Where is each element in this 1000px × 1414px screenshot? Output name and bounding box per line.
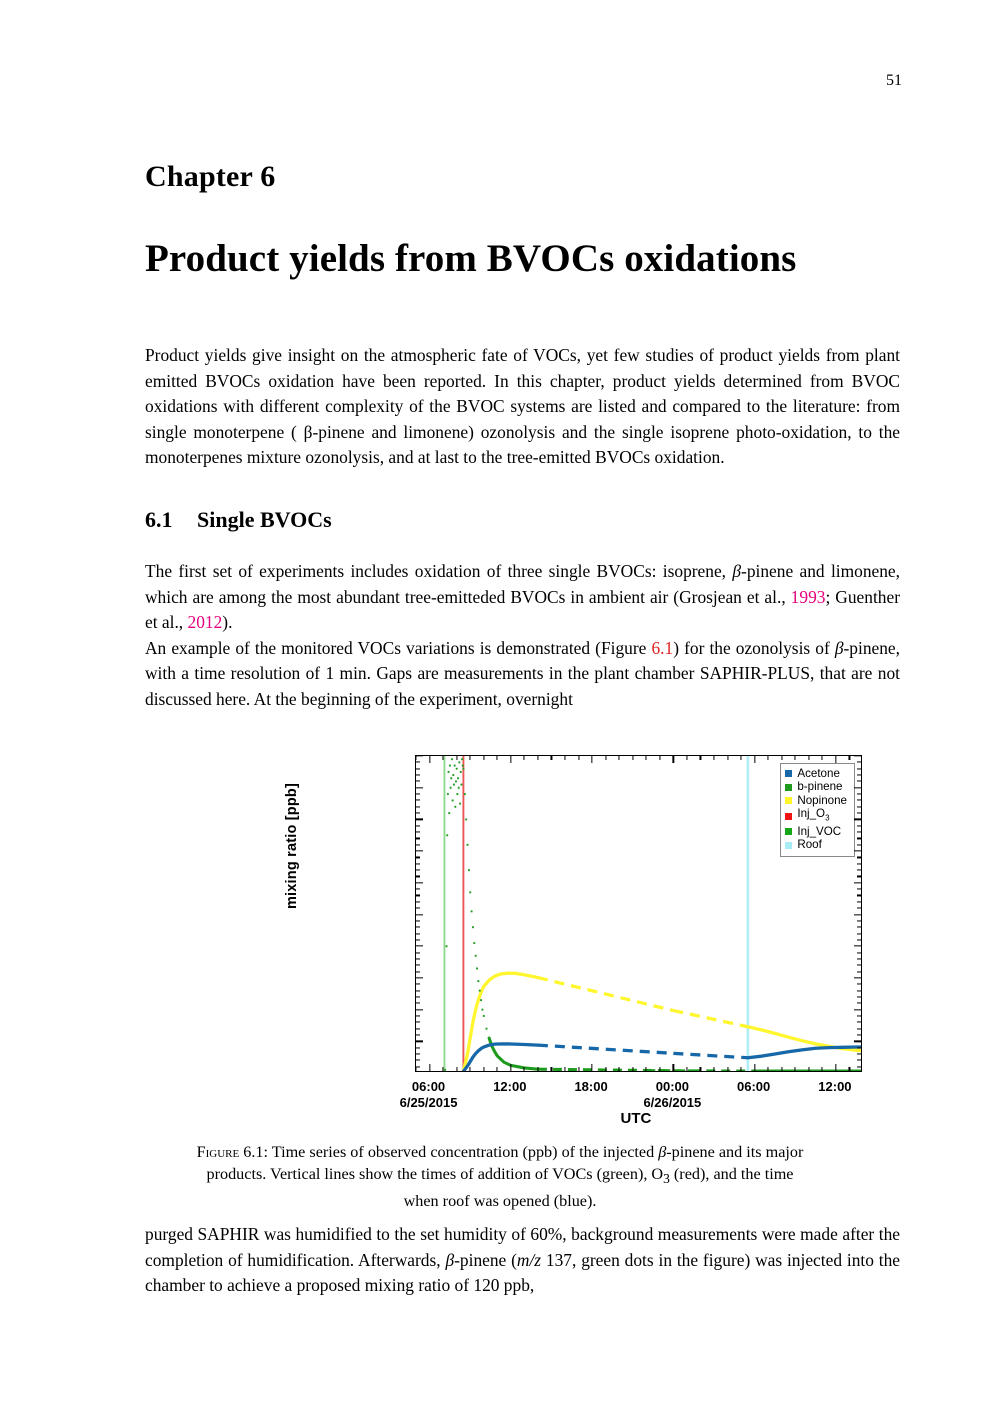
- x-tick-major: [673, 1064, 674, 1071]
- y-tick-minor: [416, 933, 420, 934]
- x-tick-minor: [578, 1067, 579, 1071]
- y-tick-major: [416, 850, 423, 851]
- y-tick-minor: [416, 813, 420, 814]
- para2-text-b: ) for the ozonolysis of: [673, 638, 835, 658]
- x-tick-minor: [619, 1067, 620, 1071]
- data-point: [486, 1028, 488, 1030]
- x-tick-minor: [700, 1067, 701, 1071]
- x-tick-minor: [605, 1067, 606, 1071]
- data-point: [453, 784, 455, 786]
- data-point: [456, 768, 458, 770]
- data-point: [455, 780, 457, 782]
- x-tick-minor: [537, 756, 538, 760]
- y-tick-major: [854, 1041, 861, 1042]
- y-tick-minor: [416, 1034, 420, 1035]
- legend-swatch-icon: [785, 828, 792, 835]
- y-tick-minor: [416, 1053, 420, 1054]
- x-tick-minor: [849, 1067, 850, 1071]
- data-point: [444, 1069, 446, 1071]
- data-point: [463, 768, 465, 770]
- y-tick-minor: [857, 774, 861, 775]
- legend-item: Inj_O3: [785, 807, 847, 825]
- y-tick-minor: [416, 1047, 420, 1048]
- series-gap-nopinone: [538, 978, 673, 1011]
- data-point: [460, 771, 462, 773]
- x-tick-major: [591, 1064, 592, 1071]
- y-tick-minor: [416, 908, 420, 909]
- x-tick-minor: [483, 756, 484, 760]
- legend-label: b-pinene: [797, 780, 842, 793]
- x-tick-major: [835, 756, 836, 763]
- caption-figure-number: 6.1:: [243, 1143, 268, 1161]
- data-point: [450, 777, 452, 779]
- y-tick-minor: [857, 832, 861, 833]
- x-tick-major: [510, 756, 511, 763]
- beta-symbol: β: [732, 561, 741, 581]
- y-tick-minor: [857, 889, 861, 890]
- y-tick-minor: [857, 895, 861, 896]
- y-tick-minor: [857, 1060, 861, 1061]
- caption-text-a: Time series of observed concentration (p…: [268, 1143, 658, 1161]
- y-tick-major: [854, 819, 861, 820]
- y-tick-minor: [416, 870, 420, 871]
- y-tick-minor: [857, 1034, 861, 1035]
- data-point: [452, 799, 454, 801]
- y-tick-minor: [416, 1022, 420, 1023]
- x-tick-label: 00:00: [656, 1079, 689, 1094]
- y-tick-minor: [416, 1015, 420, 1016]
- x-tick-minor: [781, 756, 782, 760]
- y-tick-minor: [857, 1003, 861, 1004]
- legend-label: Acetone: [797, 767, 840, 780]
- x-tick-minor: [551, 756, 552, 760]
- legend-swatch-icon: [785, 784, 792, 791]
- data-point: [451, 758, 453, 760]
- y-tick-minor: [416, 793, 420, 794]
- y-tick-major: [854, 787, 861, 788]
- y-tick-minor: [857, 1066, 861, 1067]
- x-axis-title: UTC: [621, 1110, 652, 1127]
- x-tick-minor: [795, 756, 796, 760]
- x-tick-label: 06:00: [737, 1079, 770, 1094]
- y-tick-major: [416, 755, 423, 756]
- data-point: [458, 787, 460, 789]
- y-axis-label: mixing ratio [ppb]: [284, 746, 300, 946]
- x-tick-major: [673, 756, 674, 763]
- citation-link-2012[interactable]: 2012: [188, 612, 223, 632]
- y-tick-minor: [416, 1003, 420, 1004]
- x-tick-minor: [619, 756, 620, 760]
- x-tick-label: 06:00: [412, 1079, 445, 1094]
- data-point: [483, 1015, 485, 1017]
- y-tick-minor: [857, 927, 861, 928]
- x-tick-minor: [632, 1067, 633, 1071]
- section-number: 6.1: [145, 507, 197, 533]
- x-tick-minor: [443, 756, 444, 760]
- x-tick-major: [429, 756, 430, 763]
- x-tick-minor: [700, 756, 701, 760]
- data-point: [462, 765, 464, 767]
- caption-subscript-3: 3: [663, 1171, 670, 1186]
- data-point: [447, 793, 449, 795]
- y-tick-minor: [416, 901, 420, 902]
- y-tick-minor: [416, 857, 420, 858]
- x-tick-minor: [727, 1067, 728, 1071]
- x-tick-minor: [741, 756, 742, 760]
- x-tick-minor: [564, 756, 565, 760]
- x-tick-minor: [578, 756, 579, 760]
- x-tick-major: [835, 1064, 836, 1071]
- x-tick-major: [510, 1064, 511, 1071]
- x-tick-minor: [443, 1067, 444, 1071]
- y-tick-minor: [857, 806, 861, 807]
- x-tick-minor: [470, 756, 471, 760]
- y-tick-minor: [416, 889, 420, 890]
- y-tick-minor: [416, 927, 420, 928]
- para1-text-d: ).: [222, 612, 232, 632]
- y-tick-minor: [857, 857, 861, 858]
- x-tick-minor: [415, 1067, 416, 1071]
- data-point: [457, 777, 459, 779]
- tail-paragraph: purged SAPHIR was humidified to the set …: [145, 1222, 900, 1299]
- data-point: [446, 945, 448, 947]
- x-tick-minor: [768, 1067, 769, 1071]
- y-tick-major: [416, 1041, 423, 1042]
- x-tick-minor: [632, 756, 633, 760]
- y-tick-minor: [857, 901, 861, 902]
- x-tick-minor: [659, 1067, 660, 1071]
- chart-container: mixing ratio [ppb] Acetoneb-pineneNopino…: [250, 742, 750, 1117]
- series-gap-nopinone: [673, 1011, 748, 1027]
- x-tick-major: [591, 756, 592, 763]
- data-point: [475, 955, 477, 957]
- page-content: Chapter 6 Product yields from BVOCs oxid…: [145, 160, 900, 713]
- y-tick-minor: [416, 971, 420, 972]
- y-tick-minor: [857, 1022, 861, 1023]
- x-tick-major: [754, 756, 755, 763]
- x-tick-major: [754, 1064, 755, 1071]
- legend-label: Inj_VOC: [797, 825, 841, 838]
- y-tick-major: [416, 819, 423, 820]
- x-tick-minor: [795, 1067, 796, 1071]
- document-page: 51 Chapter 6 Product yields from BVOCs o…: [0, 0, 1000, 1414]
- data-point: [460, 784, 462, 786]
- y-tick-minor: [857, 793, 861, 794]
- data-point: [476, 967, 478, 969]
- chart-plot-area: Acetoneb-pineneNopinoneInj_O3Inj_VOCRoof…: [415, 755, 862, 1072]
- chapter-title: Product yields from BVOCs oxidations: [145, 236, 900, 281]
- data-point: [446, 834, 448, 836]
- figure-6-1: mixing ratio [ppb] Acetoneb-pineneNopino…: [0, 742, 1000, 1212]
- chapter-label: Chapter 6: [145, 160, 900, 194]
- data-point: [477, 980, 479, 982]
- y-tick-minor: [416, 876, 420, 877]
- section-title: Single BVOCs: [197, 507, 332, 532]
- data-point: [480, 999, 482, 1001]
- data-point: [472, 926, 474, 928]
- data-point: [454, 765, 456, 767]
- y-tick-minor: [416, 895, 420, 896]
- y-tick-minor: [416, 990, 420, 991]
- y-tick-minor: [416, 996, 420, 997]
- x-tick-minor: [808, 1067, 809, 1071]
- data-point: [479, 990, 481, 992]
- y-tick-minor: [416, 806, 420, 807]
- y-tick-major: [854, 914, 861, 915]
- data-point: [467, 844, 469, 846]
- data-point: [459, 803, 461, 805]
- y-tick-minor: [416, 1066, 420, 1067]
- section-paragraph-1: The first set of experiments includes ox…: [145, 559, 900, 636]
- legend-item: Acetone: [785, 767, 847, 780]
- y-tick-minor: [857, 876, 861, 877]
- y-tick-minor: [857, 1028, 861, 1029]
- y-tick-minor: [416, 825, 420, 826]
- intro-paragraph: Product yields give insight on the atmos…: [145, 343, 900, 471]
- y-tick-major: [854, 946, 861, 947]
- series-gap-acetone: [538, 1045, 673, 1053]
- beta-symbol: β: [445, 1250, 454, 1270]
- legend-item: Nopinone: [785, 794, 847, 807]
- data-point: [464, 793, 466, 795]
- y-tick-major: [854, 850, 861, 851]
- y-tick-major: [854, 755, 861, 756]
- x-tick-major: [429, 1064, 430, 1071]
- x-tick-minor: [686, 756, 687, 760]
- x-tick-minor: [537, 1067, 538, 1071]
- page-number: 51: [886, 72, 902, 90]
- x-tick-minor: [470, 1067, 471, 1071]
- x-tick-minor: [686, 1067, 687, 1071]
- y-tick-major: [854, 882, 861, 883]
- x-tick-minor: [456, 756, 457, 760]
- x-tick-minor: [646, 1067, 647, 1071]
- data-point: [461, 758, 463, 760]
- data-point: [469, 891, 471, 893]
- legend-label: Nopinone: [797, 794, 847, 807]
- para1-text-a: The first set of experiments includes ox…: [145, 561, 732, 581]
- data-point: [449, 765, 451, 767]
- x-tick-minor: [415, 756, 416, 760]
- y-tick-minor: [857, 838, 861, 839]
- y-tick-major: [416, 787, 423, 788]
- y-tick-major: [416, 914, 423, 915]
- y-tick-minor: [416, 800, 420, 801]
- y-tick-minor: [857, 984, 861, 985]
- x-tick-minor: [524, 1067, 525, 1071]
- y-tick-minor: [857, 762, 861, 763]
- data-point: [465, 819, 467, 821]
- x-tick-label: 12:00: [818, 1079, 851, 1094]
- x-tick-label: 12:00: [493, 1079, 526, 1094]
- data-point: [473, 942, 475, 944]
- y-tick-minor: [416, 838, 420, 839]
- y-tick-minor: [857, 768, 861, 769]
- x-tick-minor: [551, 1067, 552, 1071]
- y-tick-minor: [857, 781, 861, 782]
- data-point: [458, 761, 460, 763]
- y-tick-minor: [857, 971, 861, 972]
- x-tick-minor: [659, 756, 660, 760]
- legend-swatch-icon: [785, 770, 792, 777]
- x-tick-minor: [564, 1067, 565, 1071]
- legend-swatch-icon: [785, 842, 792, 849]
- x-tick-minor: [768, 756, 769, 760]
- x-tick-minor: [497, 1067, 498, 1071]
- x-date-label: 6/26/2015: [643, 1095, 701, 1110]
- x-tick-minor: [646, 756, 647, 760]
- y-tick-minor: [416, 832, 420, 833]
- legend-item: Roof: [785, 838, 847, 851]
- y-tick-major: [416, 882, 423, 883]
- data-point: [471, 910, 473, 912]
- y-tick-minor: [416, 1060, 420, 1061]
- y-tick-major: [854, 977, 861, 978]
- y-tick-minor: [857, 1047, 861, 1048]
- y-tick-minor: [416, 958, 420, 959]
- x-tick-minor: [497, 756, 498, 760]
- data-point: [481, 1009, 483, 1011]
- x-tick-minor: [741, 1067, 742, 1071]
- caption-figure-word: Figure: [197, 1143, 240, 1161]
- y-tick-minor: [857, 990, 861, 991]
- y-tick-major: [416, 1009, 423, 1010]
- x-tick-minor: [483, 1067, 484, 1071]
- x-tick-minor: [713, 1067, 714, 1071]
- legend-label: Inj_O3: [797, 807, 829, 825]
- data-point: [450, 787, 452, 789]
- section-paragraph-2: An example of the monitored VOCs variati…: [145, 636, 900, 713]
- section-heading: 6.1Single BVOCs: [145, 507, 900, 533]
- y-tick-minor: [857, 825, 861, 826]
- y-tick-minor: [857, 996, 861, 997]
- x-tick-minor: [713, 756, 714, 760]
- y-tick-minor: [857, 863, 861, 864]
- y-tick-minor: [857, 965, 861, 966]
- x-tick-label: 18:00: [574, 1079, 607, 1094]
- x-tick-minor: [727, 756, 728, 760]
- y-tick-minor: [857, 844, 861, 845]
- y-tick-minor: [857, 1053, 861, 1054]
- figure-reference-link[interactable]: 6.1: [651, 638, 673, 658]
- y-tick-minor: [416, 920, 420, 921]
- y-tick-minor: [416, 762, 420, 763]
- y-tick-minor: [416, 952, 420, 953]
- y-tick-minor: [857, 952, 861, 953]
- y-tick-minor: [416, 774, 420, 775]
- x-tick-minor: [456, 1067, 457, 1071]
- data-point: [454, 806, 456, 808]
- legend-swatch-icon: [785, 813, 792, 820]
- y-tick-minor: [416, 768, 420, 769]
- tail-text-b: -pinene (: [454, 1250, 517, 1270]
- y-tick-minor: [857, 920, 861, 921]
- y-tick-minor: [857, 813, 861, 814]
- y-tick-minor: [416, 984, 420, 985]
- legend-swatch-icon: [785, 797, 792, 804]
- mz-symbol: m/z: [517, 1250, 541, 1270]
- x-tick-minor: [781, 1067, 782, 1071]
- x-tick-minor: [524, 756, 525, 760]
- x-tick-minor: [808, 756, 809, 760]
- data-point: [468, 869, 470, 871]
- citation-link-1993[interactable]: 1993: [791, 587, 826, 607]
- beta-symbol: β: [835, 638, 844, 658]
- x-tick-minor: [849, 756, 850, 760]
- data-point: [456, 793, 458, 795]
- y-tick-major: [416, 977, 423, 978]
- y-tick-minor: [416, 1028, 420, 1029]
- y-tick-minor: [857, 800, 861, 801]
- y-tick-minor: [416, 844, 420, 845]
- y-tick-minor: [416, 863, 420, 864]
- tail-content: purged SAPHIR was humidified to the set …: [145, 1222, 900, 1299]
- legend-item: Inj_VOC: [785, 825, 847, 838]
- figure-caption: Figure 6.1: Time series of observed conc…: [195, 1141, 805, 1212]
- data-point: [448, 771, 450, 773]
- y-tick-minor: [857, 933, 861, 934]
- series-gap-acetone: [673, 1053, 748, 1057]
- y-tick-minor: [857, 939, 861, 940]
- x-tick-minor: [605, 756, 606, 760]
- y-tick-minor: [416, 965, 420, 966]
- y-tick-minor: [416, 781, 420, 782]
- y-tick-minor: [416, 939, 420, 940]
- y-tick-minor: [857, 958, 861, 959]
- legend-item: b-pinene: [785, 780, 847, 793]
- data-point: [448, 812, 450, 814]
- data-point: [452, 774, 454, 776]
- y-tick-major: [416, 946, 423, 947]
- y-tick-minor: [857, 908, 861, 909]
- y-tick-minor: [857, 870, 861, 871]
- x-tick-minor: [822, 1067, 823, 1071]
- x-tick-minor: [822, 756, 823, 760]
- x-date-label: 6/25/2015: [400, 1095, 458, 1110]
- chart-legend: Acetoneb-pineneNopinoneInj_O3Inj_VOCRoof: [780, 763, 855, 857]
- y-tick-minor: [857, 1015, 861, 1016]
- para2-text-a: An example of the monitored VOCs variati…: [145, 638, 651, 658]
- series-line-acetone: [748, 1047, 862, 1058]
- legend-label: Roof: [797, 838, 822, 851]
- y-tick-major: [854, 1009, 861, 1010]
